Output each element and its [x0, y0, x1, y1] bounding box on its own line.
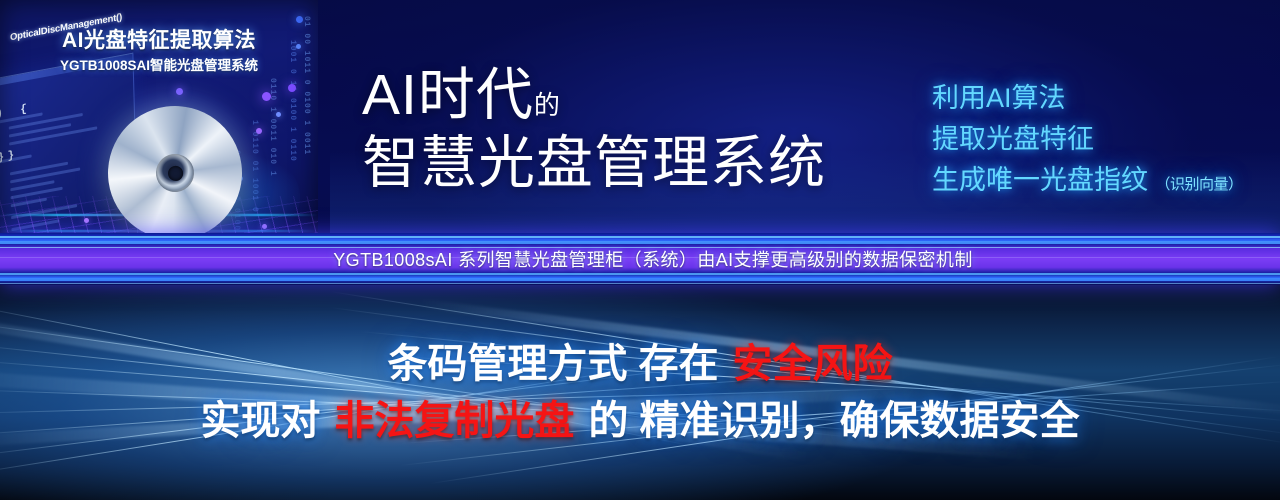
- bottom-line-1-red: 安全风险: [733, 342, 893, 386]
- feature-list: 利用AI算法 提取光盘特征 生成唯一光盘指纹 （识别向量）: [932, 78, 1243, 201]
- left-panel-title: AI光盘特征提取算法: [0, 24, 318, 54]
- headline-line-1: AI时代的: [362, 66, 826, 124]
- left-panel-subtitle: YGTB1008SAI智能光盘管理系统: [0, 54, 318, 74]
- bottom-line-2: 实现对非法复制光盘的 精准识别，确保数据安全: [200, 393, 1079, 450]
- headline-block: AI时代的 智慧光盘管理系统: [362, 66, 826, 192]
- bottom-line-2-white-b: 的 精准识别，确保数据安全: [588, 399, 1079, 443]
- strip-text: YGTB1008sAI 系列智慧光盘管理柜（系统）由AI支撑更高级别的数据保密机…: [0, 233, 1280, 285]
- feature-note: （识别向量）: [1156, 176, 1243, 193]
- subtitle-strip: YGTB1008sAI 系列智慧光盘管理柜（系统）由AI支撑更高级别的数据保密机…: [0, 233, 1280, 285]
- bottom-text-block: 条码管理方式 存在安全风险 实现对非法复制光盘的 精准识别，确保数据安全: [0, 285, 1280, 500]
- feature-item-2: 提取光盘特征: [932, 119, 1243, 160]
- bottom-line-2-red: 非法复制光盘: [334, 399, 574, 443]
- promo-banner: 01 00 1011 0 0100 1 0011 1001 0 11 0100 …: [0, 0, 1280, 500]
- headline-line-1-main: AI时代: [362, 63, 534, 127]
- headline-line-2: 智慧光盘管理系统: [362, 134, 826, 192]
- bottom-line-2-white-a: 实现对: [200, 399, 320, 443]
- bottom-line-1: 条码管理方式 存在安全风险: [387, 336, 892, 393]
- feature-item-1: 利用AI算法: [932, 78, 1243, 119]
- headline-line-1-suffix: 的: [534, 90, 560, 120]
- feature-item-3-label: 生成唯一光盘指纹: [932, 165, 1148, 195]
- feature-item-3: 生成唯一光盘指纹 （识别向量）: [932, 160, 1243, 201]
- bottom-line-1-white: 条码管理方式 存在: [387, 342, 718, 386]
- lower-section: 条码管理方式 存在安全风险 实现对非法复制光盘的 精准识别，确保数据安全: [0, 285, 1280, 500]
